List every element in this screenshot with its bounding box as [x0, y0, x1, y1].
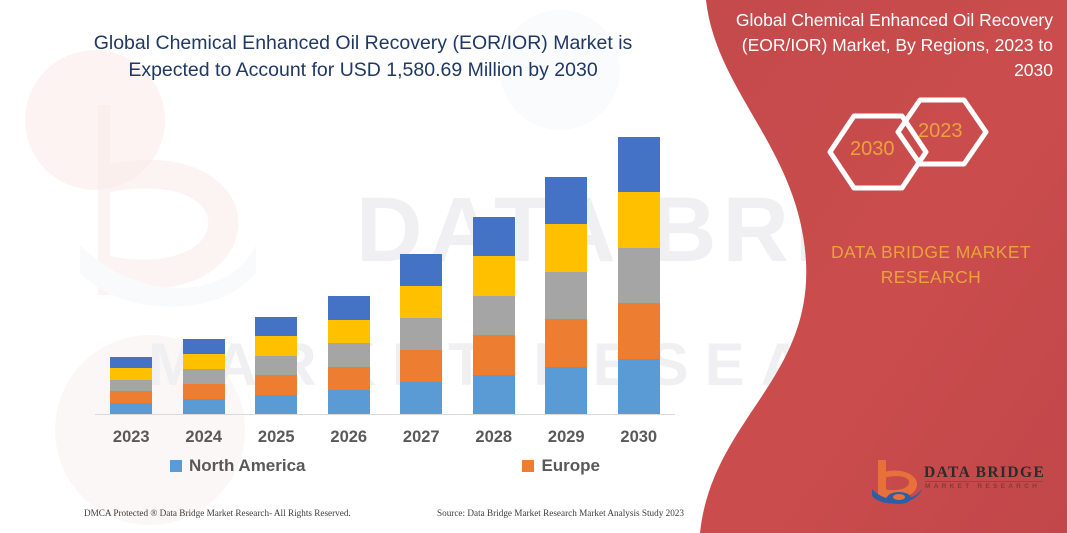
data-bridge-logo: DATA BRIDGE MARKET RESEARCH — [872, 458, 1052, 506]
bar-slot — [313, 111, 386, 414]
bar-segment — [618, 359, 660, 414]
logo-mark-icon — [872, 458, 924, 506]
hexagon-2030-label: 2030 — [850, 138, 895, 161]
brand-line-2: RESEARCH — [800, 265, 1062, 290]
brand-name: DATA BRIDGE MARKET RESEARCH — [800, 240, 1062, 291]
bar-segment — [183, 384, 225, 399]
bar-segment — [183, 369, 225, 384]
bar-segment — [400, 382, 442, 414]
bar-segment — [473, 296, 515, 335]
hexagon-group: 2030 2023 — [812, 92, 1012, 220]
bar-segment — [473, 217, 515, 256]
stacked-bar[interactable] — [400, 254, 442, 414]
hexagon-2023-label: 2023 — [918, 120, 963, 143]
legend-item[interactable]: North America — [170, 456, 306, 476]
bar-segment — [183, 354, 225, 369]
x-axis-label: 2027 — [385, 428, 458, 447]
legend-label: Europe — [541, 456, 600, 476]
bar-slot — [240, 111, 313, 414]
bar-slot — [603, 111, 676, 414]
bar-slot — [168, 111, 241, 414]
bar-segment — [110, 380, 152, 391]
bar-segment — [255, 336, 297, 355]
bar-segment — [255, 356, 297, 375]
legend-swatch — [170, 460, 182, 472]
x-axis-label: 2026 — [313, 428, 386, 447]
x-axis-labels: 20232024202520262027202820292030 — [95, 428, 675, 447]
bar-segment — [328, 367, 370, 391]
bar-segment — [618, 137, 660, 192]
bar-chart — [95, 110, 675, 415]
bar-segment — [473, 375, 515, 414]
bar-segment — [545, 177, 587, 224]
x-axis-label: 2024 — [168, 428, 241, 447]
footer-source: Source: Data Bridge Market Research Mark… — [437, 508, 684, 518]
bar-slot — [385, 111, 458, 414]
bar-segment — [618, 303, 660, 358]
bar-segment — [328, 343, 370, 367]
x-axis-label: 2028 — [458, 428, 531, 447]
panel-title: Global Chemical Enhanced Oil Recovery (E… — [731, 8, 1053, 83]
x-axis-line — [95, 414, 675, 415]
bar-segment — [545, 367, 587, 414]
bar-segment — [545, 319, 587, 366]
bar-slot — [530, 111, 603, 414]
bar-segment — [328, 390, 370, 414]
bar-segment — [400, 254, 442, 286]
bar-segment — [618, 248, 660, 303]
footer-copyright: DMCA Protected ® Data Bridge Market Rese… — [84, 508, 351, 518]
x-axis-label: 2023 — [95, 428, 168, 447]
chart-legend: North AmericaEurope — [170, 456, 600, 476]
bar-segment — [255, 317, 297, 336]
logo-tagline: MARKET RESEARCH — [925, 483, 1040, 490]
legend-swatch — [522, 460, 534, 472]
x-axis-label: 2025 — [240, 428, 313, 447]
bar-segment — [328, 296, 370, 320]
bar-slot — [95, 111, 168, 414]
bar-segment — [545, 224, 587, 271]
x-axis-label: 2029 — [530, 428, 603, 447]
bar-segment — [618, 192, 660, 247]
bar-segment — [183, 399, 225, 414]
stacked-bar[interactable] — [255, 317, 297, 414]
bar-slot — [458, 111, 531, 414]
bar-segment — [110, 391, 152, 402]
bar-segment — [400, 318, 442, 350]
legend-item[interactable]: Europe — [522, 456, 600, 476]
bar-segment — [545, 272, 587, 319]
page-title: Global Chemical Enhanced Oil Recovery (E… — [78, 30, 648, 84]
bar-segment — [400, 350, 442, 382]
footer: DMCA Protected ® Data Bridge Market Rese… — [84, 508, 684, 518]
bar-segment — [473, 335, 515, 374]
bar-segment — [110, 403, 152, 414]
bar-segment — [400, 286, 442, 318]
logo-wordmark: DATA BRIDGE — [924, 464, 1045, 482]
bar-segment — [110, 368, 152, 379]
bar-segment — [328, 320, 370, 344]
stacked-bar[interactable] — [328, 296, 370, 414]
stacked-bar[interactable] — [183, 339, 225, 414]
bar-segment — [255, 395, 297, 414]
bar-segment — [110, 357, 152, 368]
infographic-root: DATA BRIDGE MARKET RESEARCH Global Chemi… — [0, 0, 1067, 533]
bar-group — [95, 111, 675, 414]
bar-segment — [255, 375, 297, 394]
bar-segment — [473, 256, 515, 295]
stacked-bar[interactable] — [110, 357, 152, 414]
stacked-bar[interactable] — [545, 177, 587, 414]
brand-line-1: DATA BRIDGE MARKET — [800, 240, 1062, 265]
stacked-bar[interactable] — [473, 217, 515, 414]
x-axis-label: 2030 — [603, 428, 676, 447]
bar-segment — [183, 339, 225, 354]
stacked-bar[interactable] — [618, 137, 660, 414]
legend-label: North America — [189, 456, 306, 476]
